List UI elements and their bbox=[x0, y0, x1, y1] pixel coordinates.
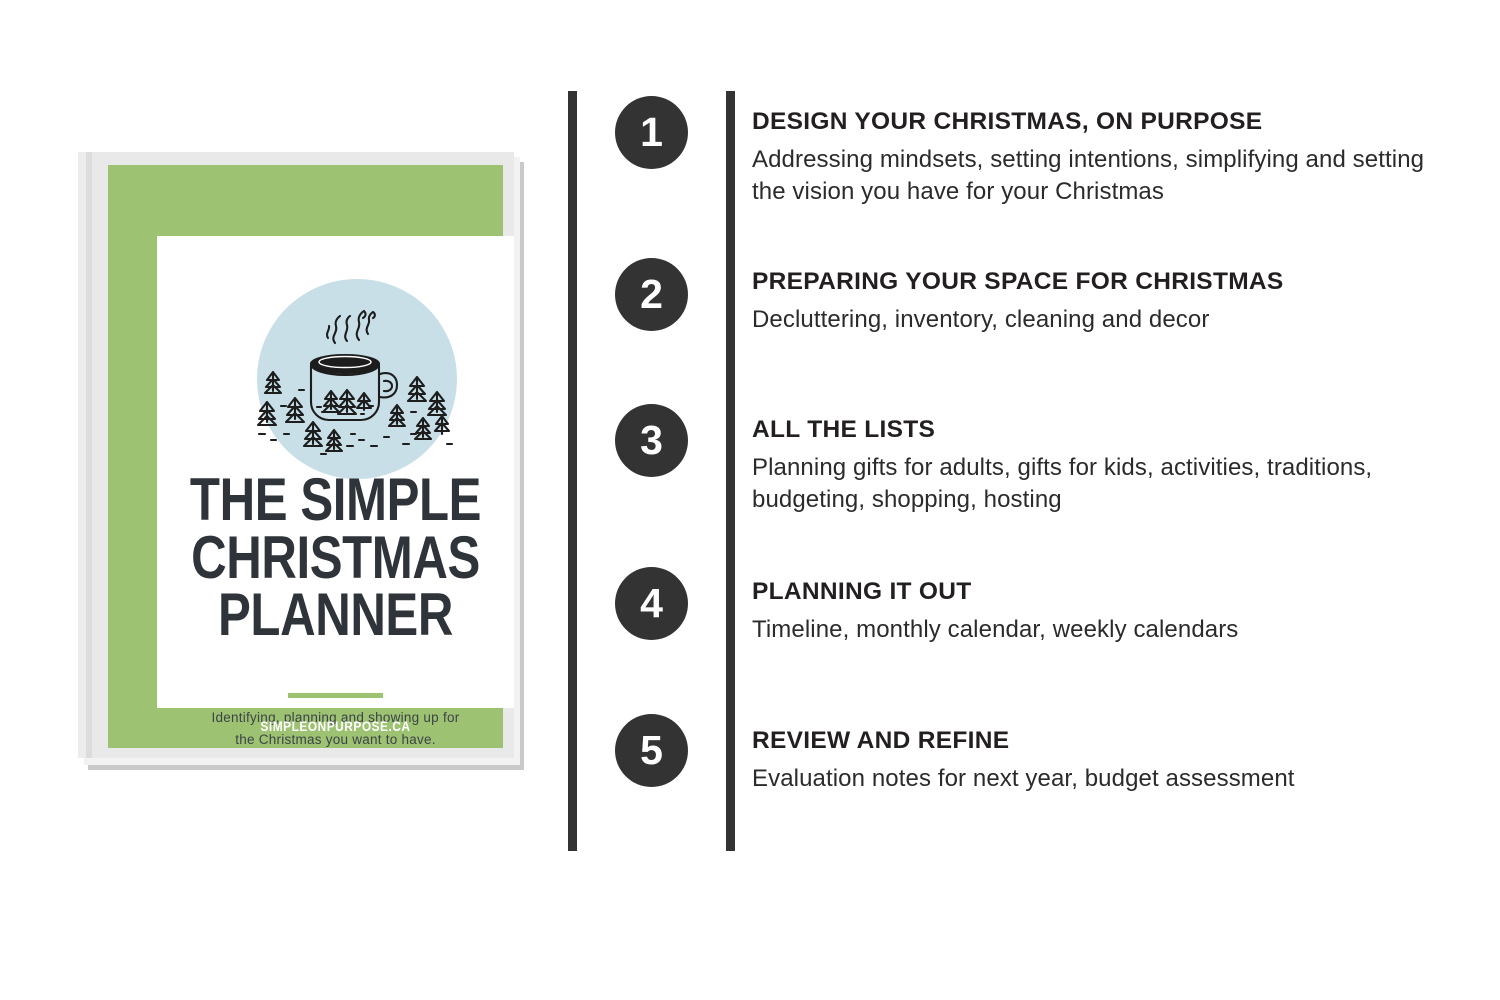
step-number-badge: 5 bbox=[615, 714, 688, 787]
cover-white-panel: THE SIMPLE CHRISTMAS PLANNER Identifying… bbox=[157, 236, 514, 708]
step-number-badge: 3 bbox=[615, 404, 688, 477]
step-number-badge: 4 bbox=[615, 567, 688, 640]
divider-rail-left bbox=[568, 91, 577, 851]
cover-title: THE SIMPLE CHRISTMAS PLANNER bbox=[189, 471, 482, 644]
cover-title-line-1: THE SIMPLE bbox=[189, 471, 482, 529]
step-content: ALL THE LISTS Planning gifts for adults,… bbox=[752, 416, 1452, 516]
step-number-badge: 2 bbox=[615, 258, 688, 331]
step-title: PLANNING IT OUT bbox=[752, 578, 1452, 605]
book-spine-outer bbox=[78, 152, 86, 758]
divider-rail-right bbox=[726, 91, 735, 851]
book-cover-mockup: THE SIMPLE CHRISTMAS PLANNER Identifying… bbox=[78, 152, 524, 770]
step-title: DESIGN YOUR CHRISTMAS, ON PURPOSE bbox=[752, 108, 1452, 135]
step-description: Addressing mindsets, setting intentions,… bbox=[752, 144, 1452, 207]
step-content: DESIGN YOUR CHRISTMAS, ON PURPOSE Addres… bbox=[752, 108, 1452, 208]
cover-website-url: SIMPLEONPURPOSE.CA bbox=[184, 718, 487, 734]
steps-panel: 1 DESIGN YOUR CHRISTMAS, ON PURPOSE Addr… bbox=[560, 88, 1460, 858]
step-title: PREPARING YOUR SPACE FOR CHRISTMAS bbox=[752, 268, 1452, 295]
step-description: Decluttering, inventory, cleaning and de… bbox=[752, 304, 1452, 336]
cover-title-line-2: CHRISTMAS bbox=[189, 529, 482, 587]
cover-title-line-3: PLANNER bbox=[189, 586, 482, 644]
step-description: Evaluation notes for next year, budget a… bbox=[752, 763, 1452, 795]
book-body: THE SIMPLE CHRISTMAS PLANNER Identifying… bbox=[78, 152, 514, 758]
step-content: PREPARING YOUR SPACE FOR CHRISTMAS Declu… bbox=[752, 268, 1452, 336]
step-number-badge: 1 bbox=[615, 96, 688, 169]
step-content: REVIEW AND REFINE Evaluation notes for n… bbox=[752, 727, 1452, 795]
step-title: REVIEW AND REFINE bbox=[752, 727, 1452, 754]
step-content: PLANNING IT OUT Timeline, monthly calend… bbox=[752, 578, 1452, 646]
cover-green-accent-rule bbox=[288, 693, 383, 698]
step-title: ALL THE LISTS bbox=[752, 416, 1452, 443]
cover-green-frame: THE SIMPLE CHRISTMAS PLANNER Identifying… bbox=[108, 165, 503, 748]
book-spine-inner bbox=[86, 152, 92, 758]
step-description: Planning gifts for adults, gifts for kid… bbox=[752, 452, 1452, 515]
steaming-mug-with-pine-trees-icon bbox=[251, 294, 463, 469]
step-description: Timeline, monthly calendar, weekly calen… bbox=[752, 614, 1452, 646]
